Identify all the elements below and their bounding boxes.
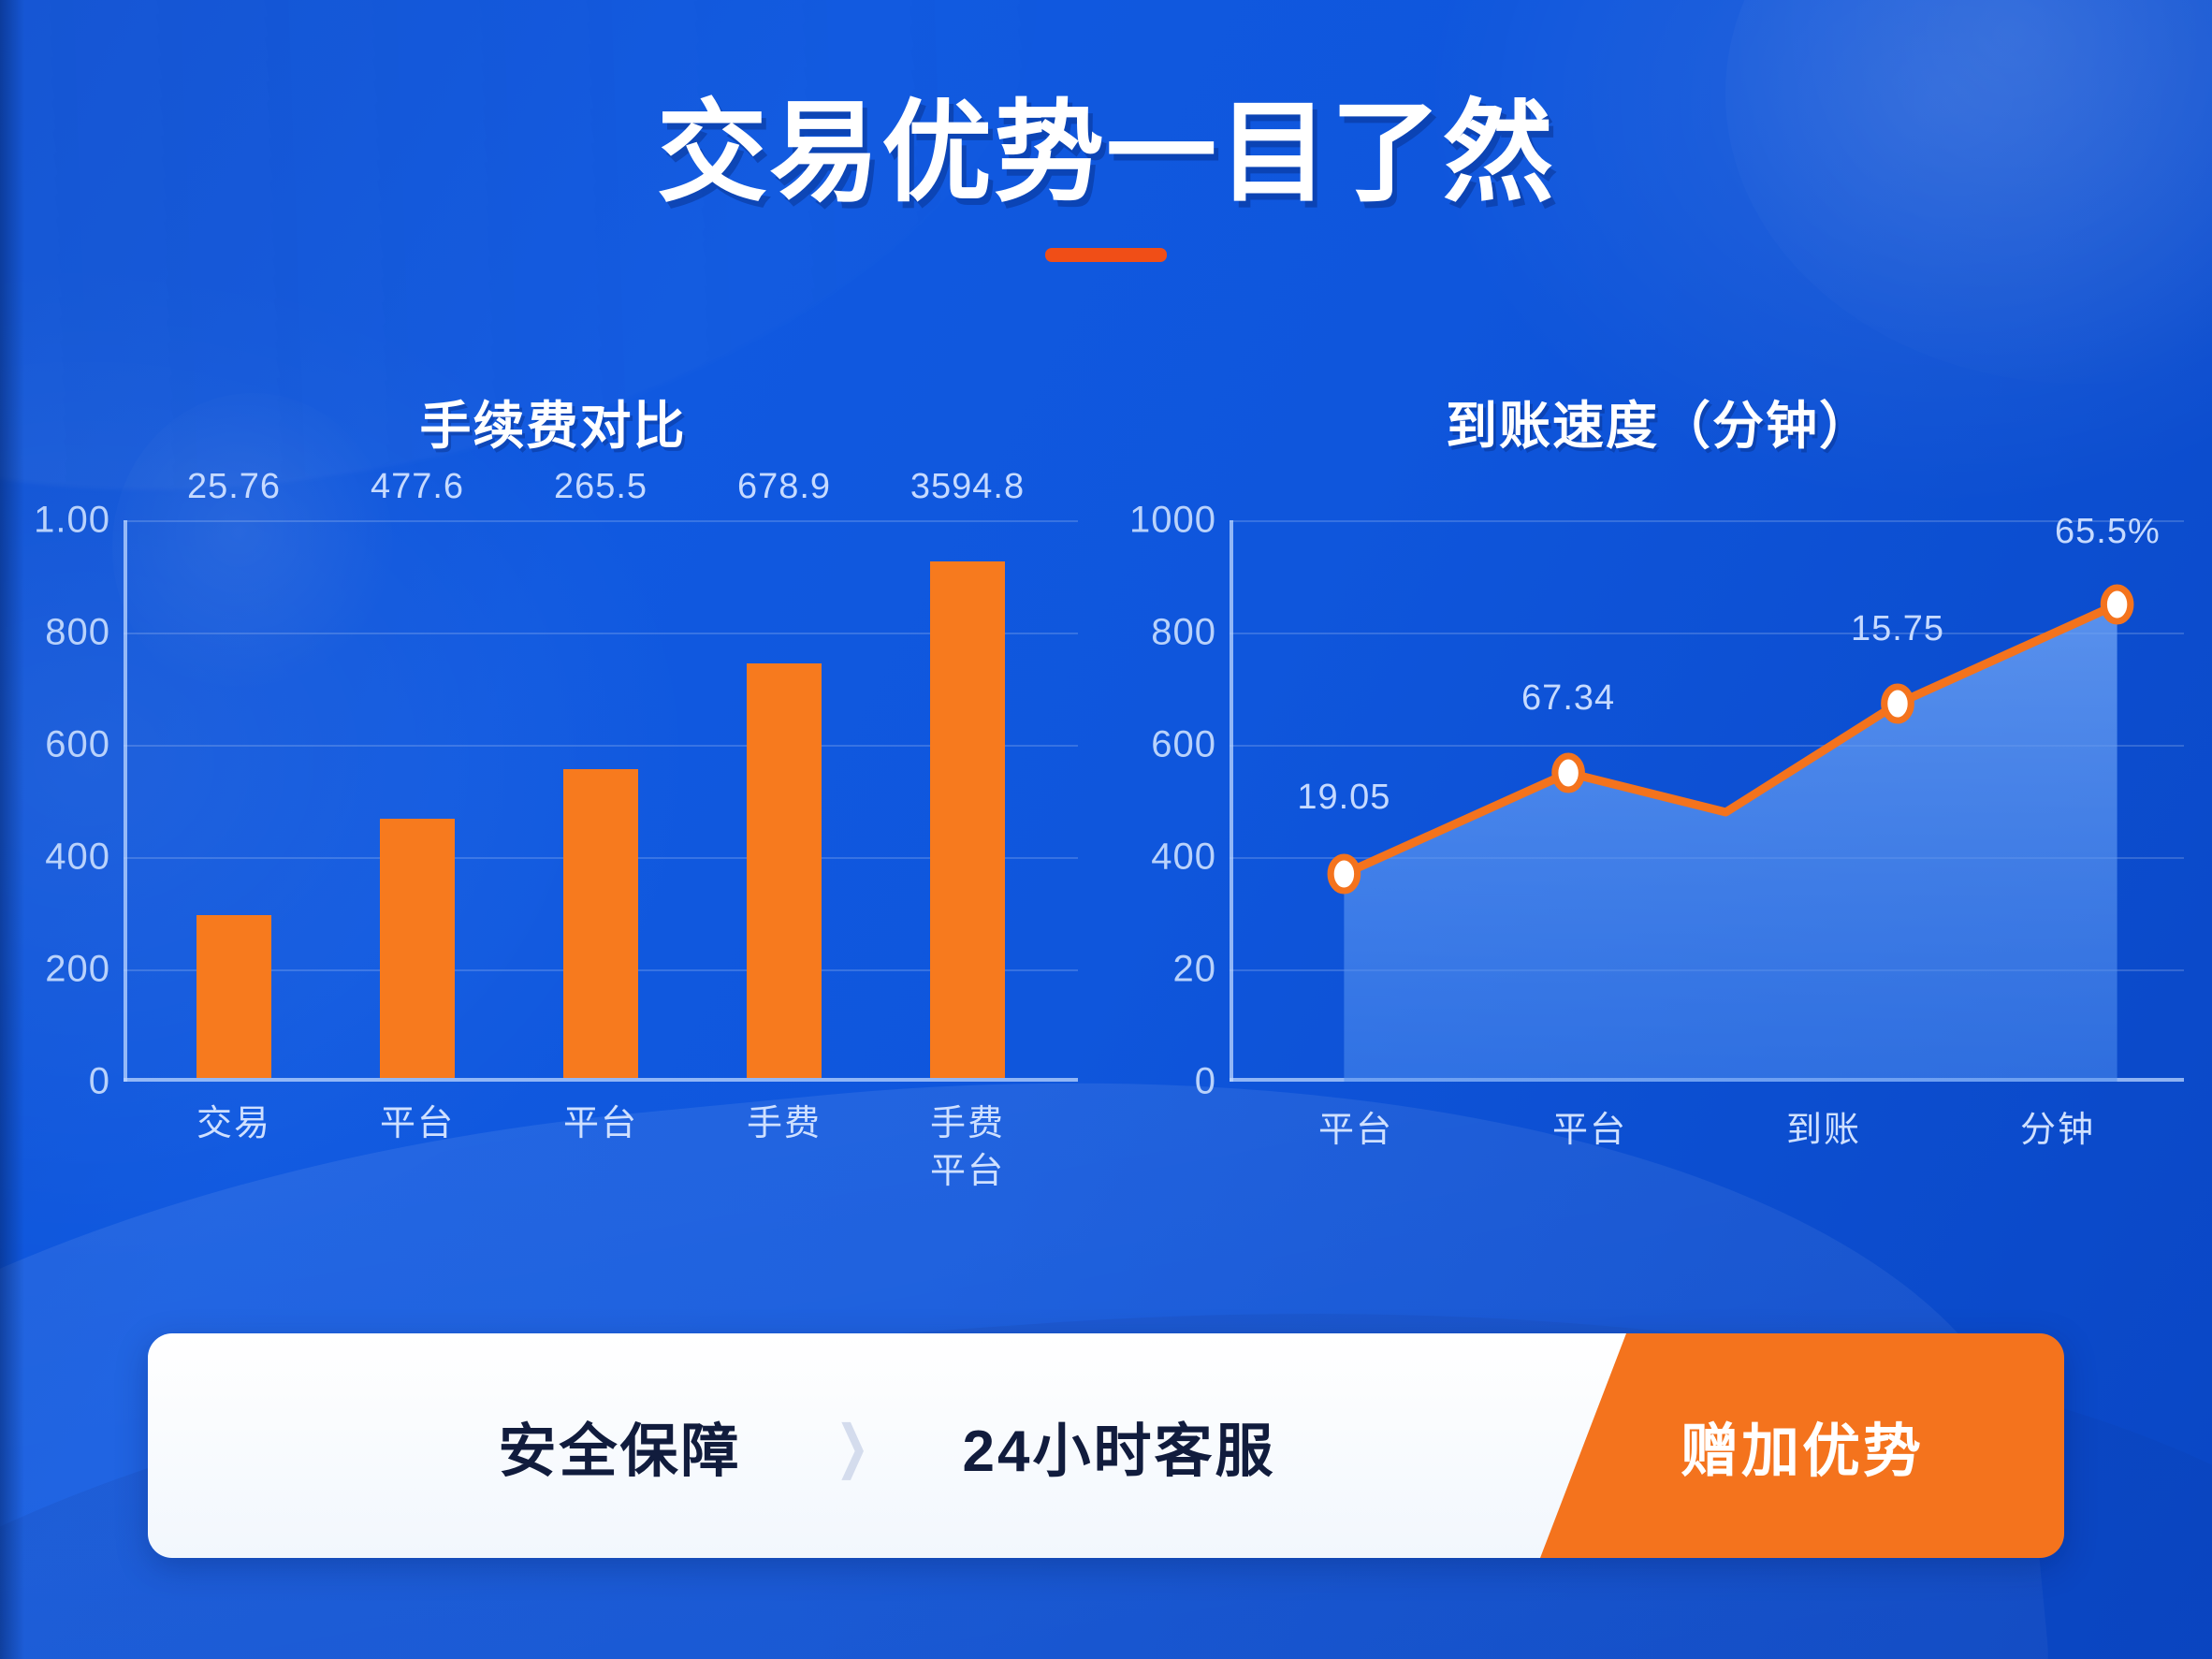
bar-series: 25.76 477.6 265.5 678.9 xyxy=(124,520,1078,1078)
charts-row: 手续费对比 1.00 800 600 400 200 0 xyxy=(0,384,2212,1235)
chart-panel-speed: 到账速度（分钟） 1000 800 600 400 20 0 xyxy=(1106,384,2212,1235)
feature-item-security[interactable]: 安全保障 xyxy=(499,1404,742,1488)
cta-button[interactable]: 赠加优势 xyxy=(1540,1333,2064,1558)
x-tick-label: 交易 xyxy=(183,1100,284,1197)
bar-rect[interactable] xyxy=(930,561,1005,1078)
chart-title-speed: 到账速度（分钟） xyxy=(1106,384,2212,458)
poster-canvas: 交易优势一目了然 手续费对比 1.00 800 600 400 200 0 xyxy=(0,0,2212,1659)
bar-item[interactable]: 3594.8 xyxy=(917,520,1018,1078)
x-tick-label: 平台 xyxy=(550,1100,651,1197)
bar-item[interactable]: 678.9 xyxy=(734,520,835,1078)
y-tick: 0 xyxy=(89,1061,110,1103)
chart-title-fees: 手续费对比 xyxy=(0,384,1106,458)
bar-value-label: 678.9 xyxy=(737,467,831,507)
area-chart-y-axis: 1000 800 600 400 20 0 xyxy=(1106,520,1230,1082)
page-title: 交易优势一目了然 xyxy=(657,98,1555,209)
data-point-marker[interactable] xyxy=(2103,588,2131,621)
title-accent-rule xyxy=(1045,248,1167,262)
x-tick-label: 平台 xyxy=(1473,1100,1707,1152)
y-tick: 1.00 xyxy=(34,500,110,542)
x-axis-line xyxy=(124,1078,1078,1082)
y-tick: 20 xyxy=(1173,949,1217,991)
x-tick-label: 平台 xyxy=(367,1100,468,1197)
bar-chart-y-axis: 1.00 800 600 400 200 0 xyxy=(0,520,124,1082)
bar-chart-x-axis: 交易 平台 平台 手费 手费 平台 xyxy=(124,1100,1078,1197)
y-tick: 1000 xyxy=(1129,500,1216,542)
point-value-label: 19.05 xyxy=(1297,778,1390,818)
data-point-marker[interactable] xyxy=(1555,756,1582,790)
bar-item[interactable]: 477.6 xyxy=(367,520,468,1078)
chevron-right-icon: ❯ xyxy=(835,1412,868,1480)
x-tick-label: 到账 xyxy=(1707,1100,1941,1152)
area-chart-x-axis: 平台 平台 到账 分钟 xyxy=(1230,1100,2184,1152)
bar-value-label: 3594.8 xyxy=(910,467,1025,507)
x-tick-label: 分钟 xyxy=(1941,1100,2175,1152)
bar-value-label: 265.5 xyxy=(554,467,648,507)
point-value-label: 67.34 xyxy=(1521,678,1615,719)
x-tick-label: 手费 平台 xyxy=(917,1100,1018,1197)
y-tick: 600 xyxy=(1151,724,1216,766)
data-point-marker[interactable] xyxy=(1885,687,1912,720)
y-tick: 800 xyxy=(45,612,110,654)
point-value-label: 65.5% xyxy=(2055,512,2161,552)
y-tick: 600 xyxy=(45,724,110,766)
feature-item-support[interactable]: 24小时客服 xyxy=(963,1404,1276,1488)
bar-rect[interactable] xyxy=(563,769,638,1078)
y-tick: 400 xyxy=(45,837,110,879)
bar-value-label: 477.6 xyxy=(371,467,464,507)
x-tick-label: 手费 xyxy=(734,1100,835,1197)
bar-rect[interactable] xyxy=(747,663,822,1078)
bottom-feature-bar: 安全保障 ❯ 24小时客服 赠加优势 xyxy=(148,1333,2064,1558)
cta-button-label: 赠加优势 xyxy=(1681,1404,1924,1488)
y-tick: 200 xyxy=(45,949,110,991)
chart-panel-fees: 手续费对比 1.00 800 600 400 200 0 xyxy=(0,384,1106,1235)
bar-rect[interactable] xyxy=(380,819,455,1078)
bar-chart-plot: 1.00 800 600 400 200 0 xyxy=(0,520,1106,1082)
bottom-bar-left: 安全保障 ❯ 24小时客服 xyxy=(148,1333,1626,1558)
point-value-label: 15.75 xyxy=(1851,609,1944,649)
title-block: 交易优势一目了然 xyxy=(0,98,2212,262)
area-chart-grid: 19.05 67.34 15.75 65.5% xyxy=(1230,520,2184,1082)
y-tick: 0 xyxy=(1195,1061,1216,1103)
bar-rect[interactable] xyxy=(196,915,271,1078)
bar-item[interactable]: 25.76 xyxy=(183,520,284,1078)
y-tick: 400 xyxy=(1151,837,1216,879)
bar-chart-grid: 25.76 477.6 265.5 678.9 xyxy=(124,520,1078,1082)
data-point-marker[interactable] xyxy=(1331,857,1358,891)
bar-item[interactable]: 265.5 xyxy=(550,520,651,1078)
bar-value-label: 25.76 xyxy=(187,467,281,507)
area-chart-plot: 1000 800 600 400 20 0 xyxy=(1106,520,2212,1082)
x-tick-label: 平台 xyxy=(1239,1100,1473,1152)
y-tick: 800 xyxy=(1151,612,1216,654)
